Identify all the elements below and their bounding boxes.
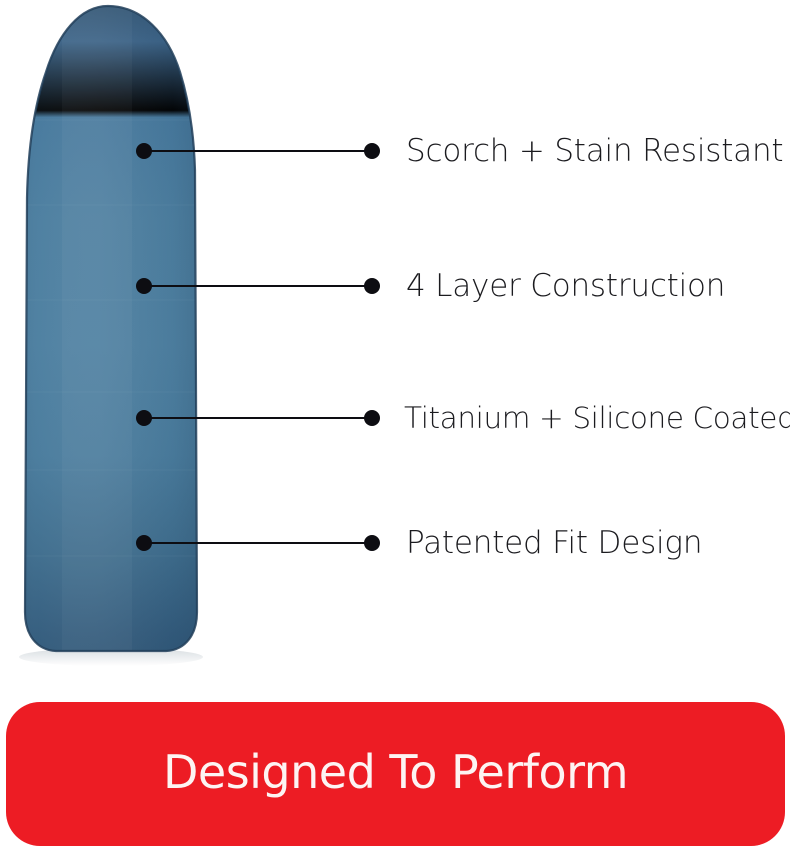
cta-label: Designed To Perform: [163, 749, 628, 799]
feature-label: Patented Fit Design: [406, 521, 702, 565]
feature-callout-1: Scorch + Stain Resistant: [0, 129, 790, 173]
anchor-dot-left: [136, 143, 152, 159]
anchor-dot-right: [364, 535, 380, 551]
anchor-dot-right: [364, 410, 380, 426]
feature-label: Titanium + Silicone Coated: [404, 396, 790, 440]
anchor-dot-right: [364, 278, 380, 294]
anchor-dot-left: [136, 278, 152, 294]
leader-line: [146, 417, 372, 419]
designed-to-perform-banner: Designed To Perform: [6, 702, 785, 846]
feature-label: Scorch + Stain Resistant: [406, 129, 783, 173]
feature-label: 4 Layer Construction: [406, 264, 725, 308]
product-image: [0, 0, 240, 690]
leader-line: [146, 542, 372, 544]
feature-callout-3: Titanium + Silicone Coated: [0, 396, 790, 440]
anchor-dot-left: [136, 410, 152, 426]
ironing-board-cover-illustration: [0, 0, 240, 690]
leader-line: [146, 150, 372, 152]
anchor-dot-left: [136, 535, 152, 551]
feature-callout-2: 4 Layer Construction: [0, 264, 790, 308]
anchor-dot-right: [364, 143, 380, 159]
product-infographic: Scorch + Stain Resistant 4 Layer Constru…: [0, 0, 790, 859]
leader-line: [146, 285, 372, 287]
feature-callout-4: Patented Fit Design: [0, 521, 790, 565]
